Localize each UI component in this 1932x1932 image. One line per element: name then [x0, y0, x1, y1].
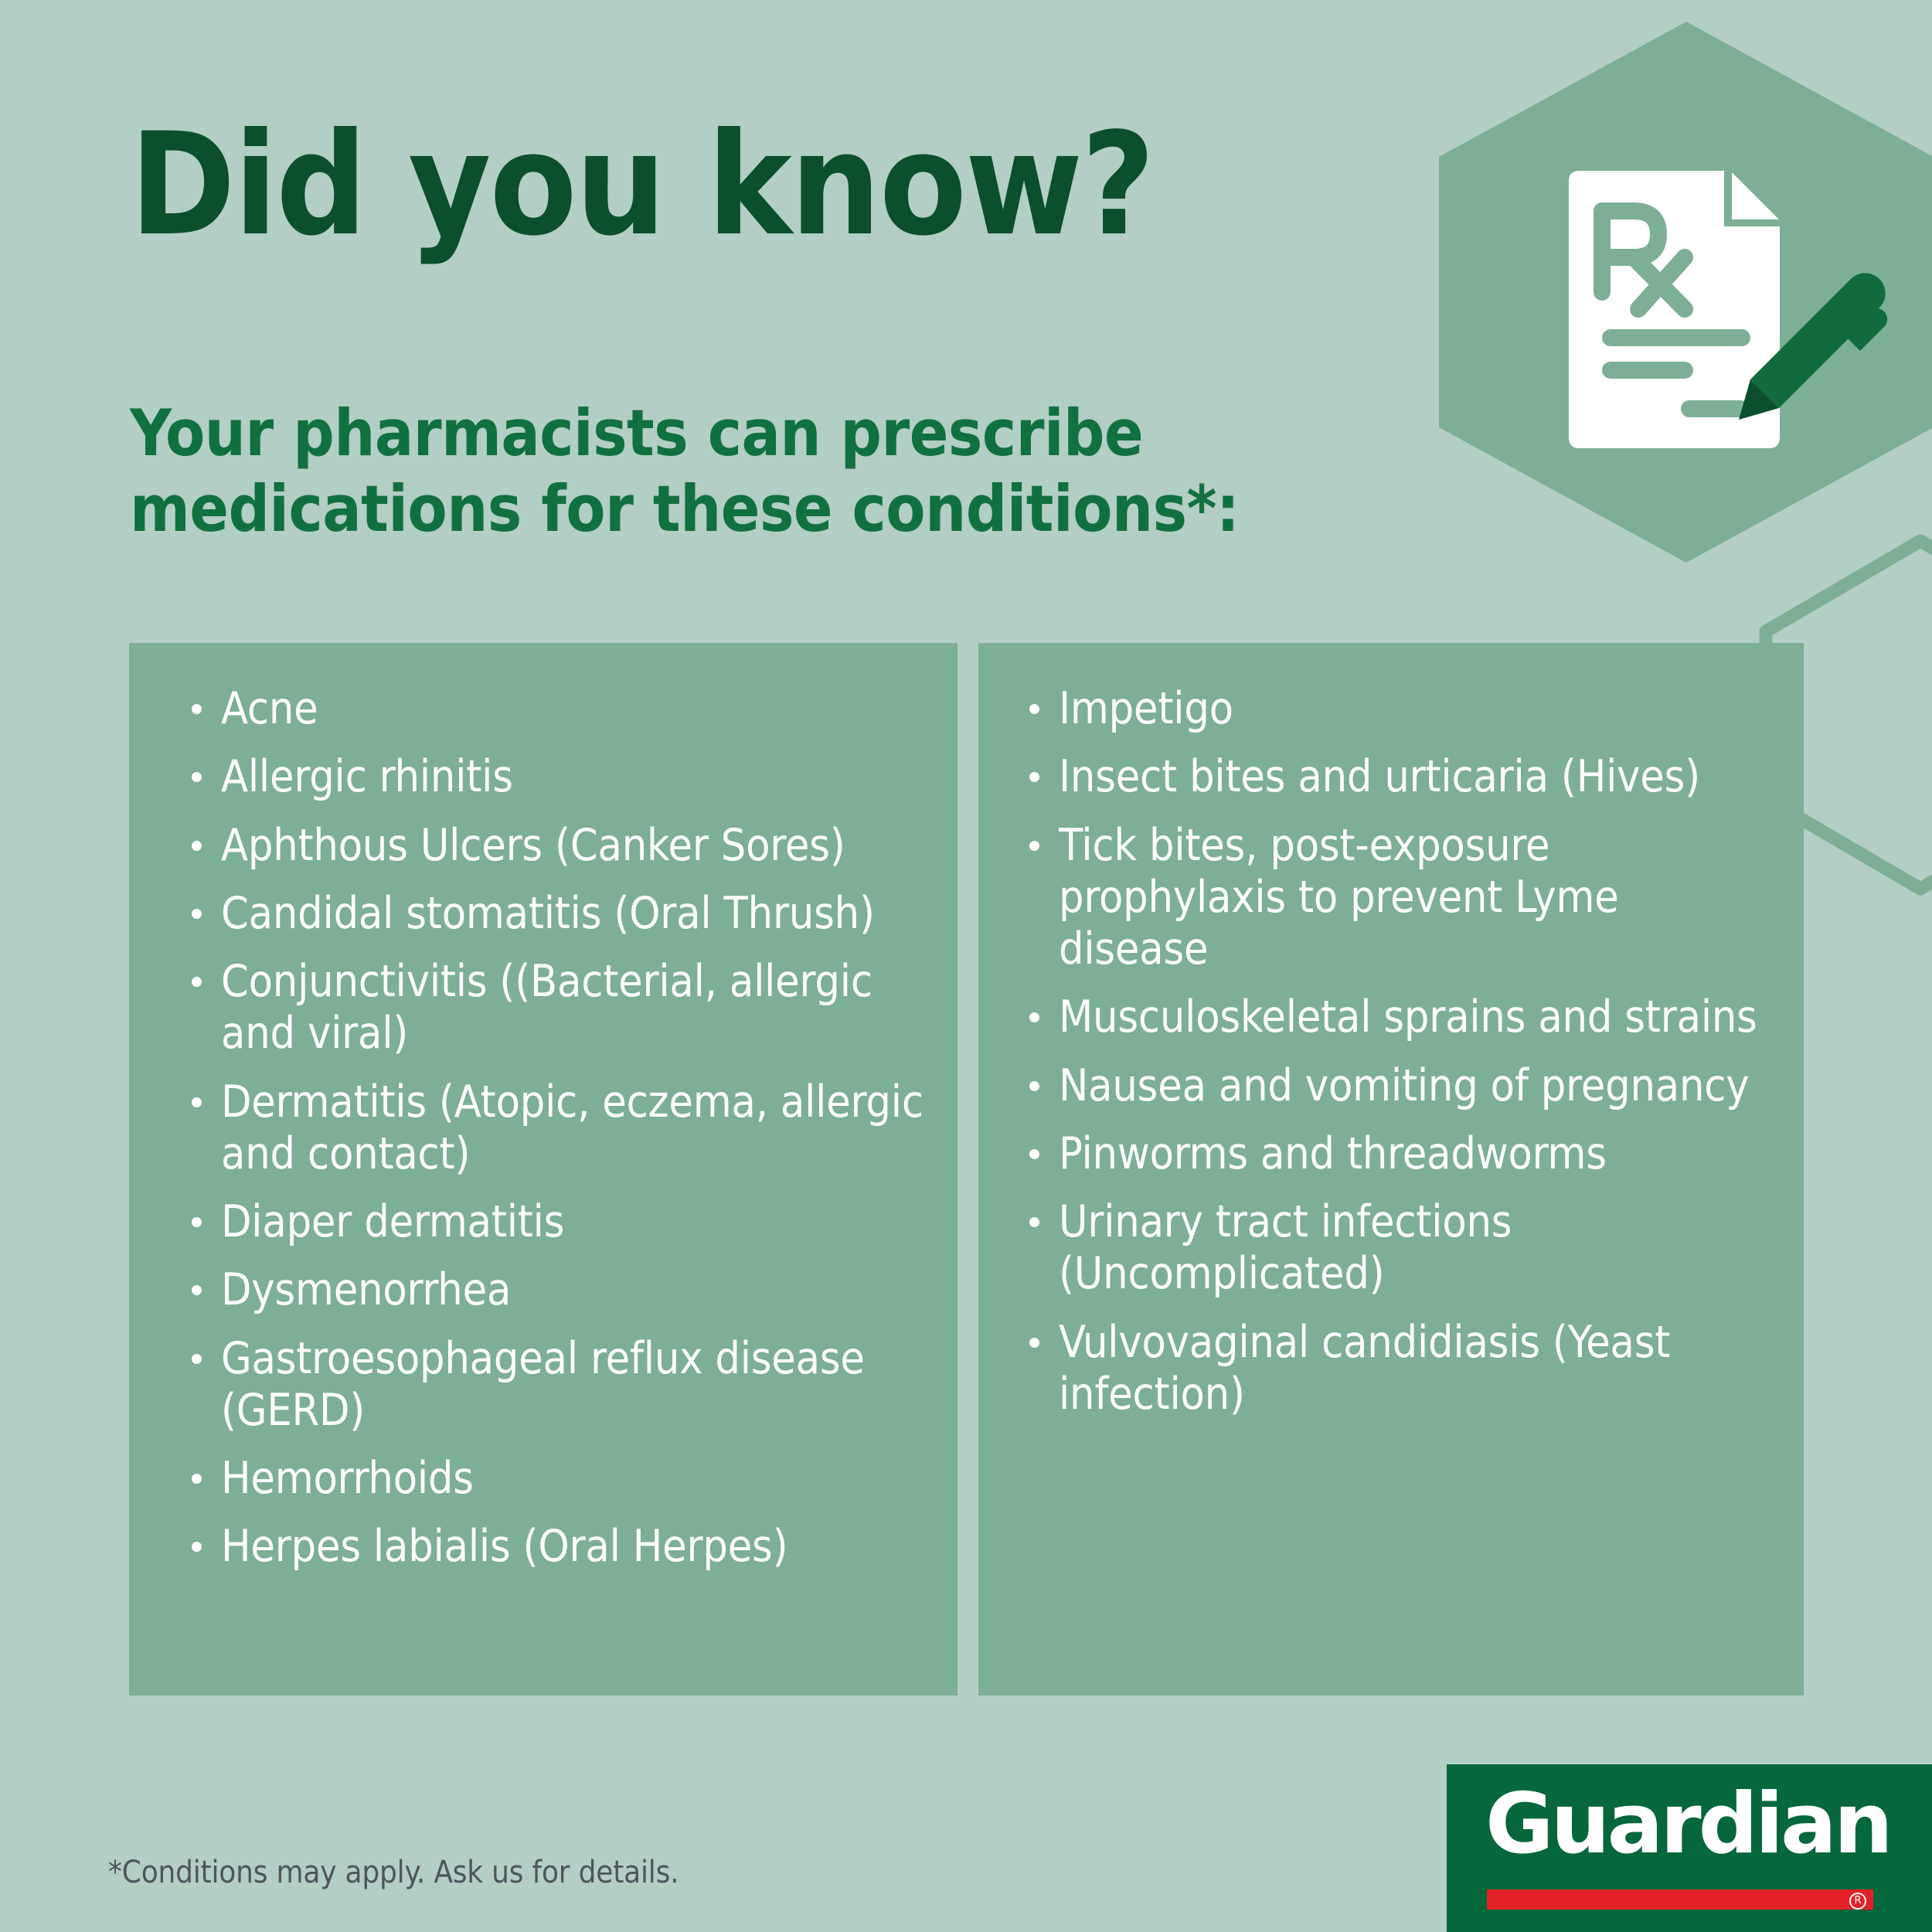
condition-list-item: Pinworms and threadworms [1025, 1128, 1781, 1180]
condition-list-item: Diaper dermatitis [187, 1196, 927, 1248]
page-title: Did you know? [130, 114, 1154, 256]
condition-list-item: Urinary tract infections (Uncomplicated) [1025, 1196, 1781, 1301]
conditions-panel-left: AcneAllergic rhinitisAphthous Ulcers (Ca… [129, 643, 957, 1696]
signature-line [1681, 400, 1749, 417]
condition-list-item: Impetigo [1025, 683, 1781, 735]
condition-list-item: Allergic rhinitis [187, 751, 927, 803]
hexagon-shape [1439, 22, 1932, 563]
rx-symbol-icon [1602, 211, 1685, 309]
condition-list-item: Musculoskeletal sprains and strains [1025, 992, 1781, 1043]
guardian-wordmark: Guardian [1485, 1783, 1890, 1866]
condition-list-item: Acne [187, 683, 927, 735]
condition-list-item: Insect bites and urticaria (Hives) [1025, 751, 1781, 803]
page-subtitle-line-1: Your pharmacists can prescribe [130, 396, 1239, 471]
page-subtitle: Your pharmacists can prescribe medicatio… [130, 396, 1239, 547]
condition-list-item: Vulvovaginal candidiasis (Yeast infectio… [1025, 1317, 1781, 1421]
conditions-list-left: AcneAllergic rhinitisAphthous Ulcers (Ca… [187, 683, 927, 1573]
conditions-list-right: ImpetigoInsect bites and urticaria (Hive… [1025, 683, 1781, 1420]
condition-list-item: Gastroesophageal reflux disease (GERD) [187, 1333, 927, 1437]
document-fold-corner [1732, 172, 1779, 219]
condition-list-item: Dysmenorrhea [187, 1264, 927, 1316]
condition-list-item: Tick bites, post-exposure prophylaxis to… [1025, 820, 1781, 976]
disclaimer-text: *Conditions may apply. Ask us for detail… [108, 1855, 679, 1890]
condition-list-item: Hemorrhoids [187, 1453, 927, 1505]
guardian-underline-bar: R [1487, 1889, 1873, 1910]
condition-list-item: Dermatitis (Atopic, eczema, allergic and… [187, 1077, 927, 1181]
document-line-1 [1602, 329, 1750, 346]
condition-list-item: Nausea and vomiting of pregnancy [1025, 1060, 1781, 1112]
prescription-document-with-pen-icon [1569, 171, 1887, 448]
document-shape [1569, 171, 1780, 448]
document-line-2 [1602, 362, 1693, 379]
conditions-panel-right: ImpetigoInsect bites and urticaria (Hive… [978, 643, 1804, 1696]
condition-list-item: Aphthous Ulcers (Canker Sores) [187, 820, 927, 872]
guardian-logo: Guardian R [1447, 1764, 1932, 1932]
registered-trademark-icon: R [1849, 1893, 1866, 1910]
page-subtitle-line-2: medications for these conditions*: [130, 471, 1239, 547]
pen-icon [1739, 273, 1887, 420]
condition-list-item: Conjunctivitis ((Bacterial, allergic and… [187, 956, 927, 1060]
infographic-canvas: Did you know? Your pharmacists can presc… [0, 0, 1932, 1932]
condition-list-item: Herpes labialis (Oral Herpes) [187, 1521, 927, 1573]
condition-list-item: Candidal stomatitis (Oral Thrush) [187, 888, 927, 940]
hexagon-rx-badge [1439, 22, 1932, 563]
